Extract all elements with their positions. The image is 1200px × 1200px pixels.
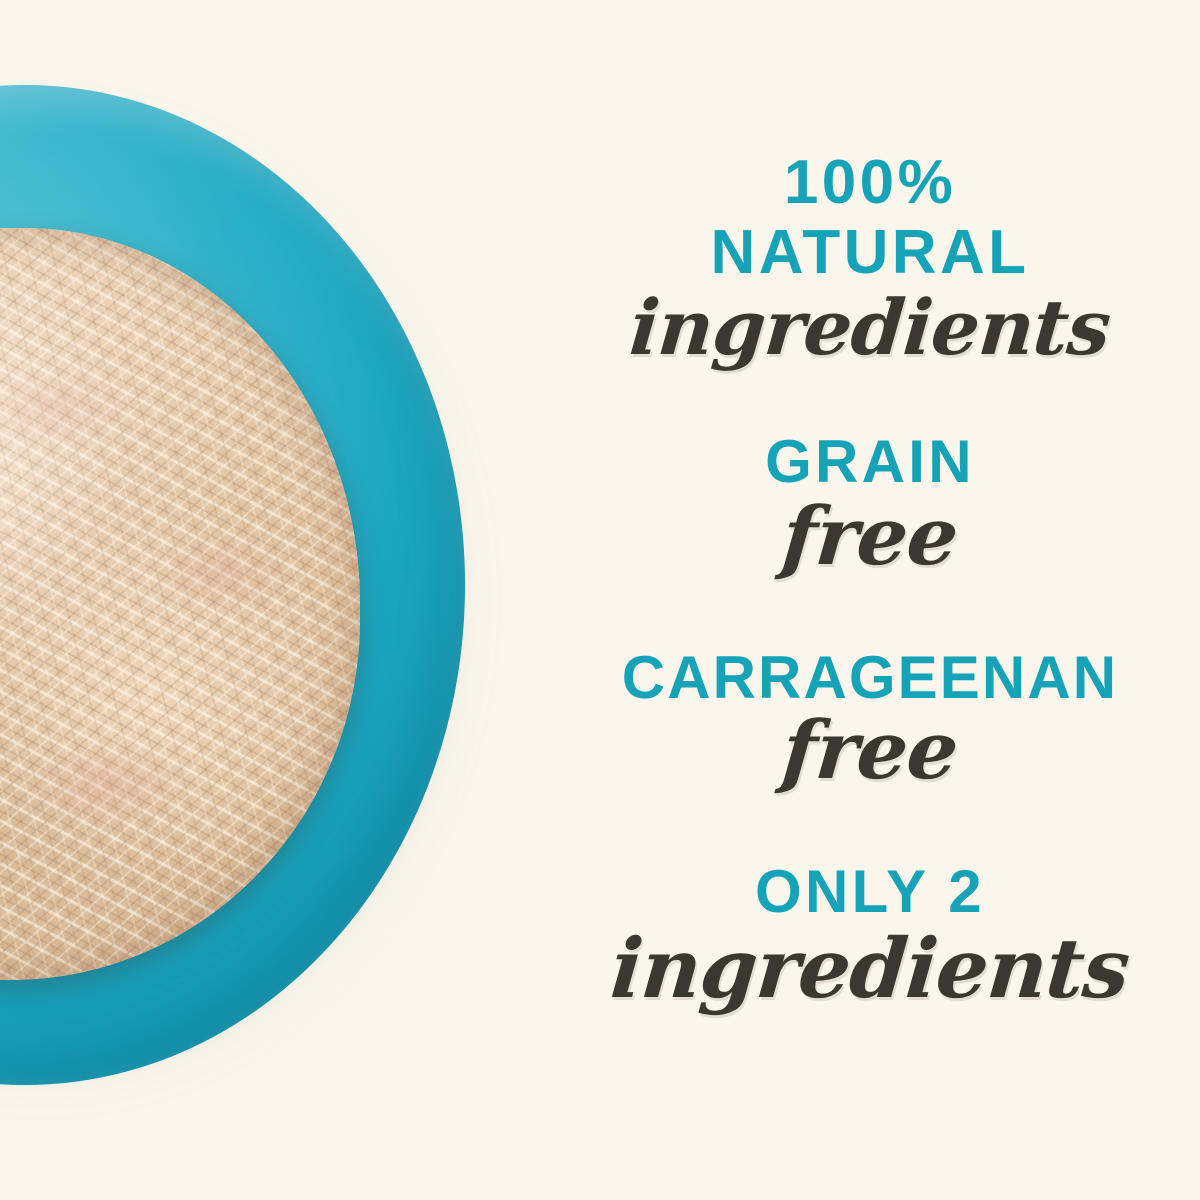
claim-2-accent-line-1: GRAIN bbox=[540, 432, 1200, 492]
shredded-tuna-mound bbox=[0, 228, 360, 980]
claim-carrageenan-free: CARRAGEENAN free bbox=[540, 648, 1200, 790]
claim-natural-ingredients: 100% NATURAL ingredients bbox=[540, 152, 1200, 366]
claim-3-accent-line-1: CARRAGEENAN bbox=[540, 648, 1200, 708]
claim-4-script-line: ingredients bbox=[536, 928, 1200, 1010]
claim-grain-free: GRAIN free bbox=[540, 432, 1200, 576]
claim-only-2-ingredients: ONLY 2 ingredients bbox=[540, 862, 1200, 1010]
product-benefits-poster: 100% NATURAL ingredients GRAIN free CARR… bbox=[0, 0, 1200, 1200]
claim-3-script-line: free bbox=[537, 710, 1200, 790]
claim-1-accent-line-1: 100% bbox=[540, 152, 1200, 214]
product-photo bbox=[0, 0, 560, 1200]
claims-list: 100% NATURAL ingredients GRAIN free CARR… bbox=[540, 0, 1200, 1200]
claim-1-script-line: ingredients bbox=[537, 290, 1200, 366]
claim-2-script-line: free bbox=[537, 496, 1200, 576]
claim-1-accent-line-2: NATURAL bbox=[540, 222, 1200, 284]
claim-4-accent-line-1: ONLY 2 bbox=[540, 862, 1200, 922]
